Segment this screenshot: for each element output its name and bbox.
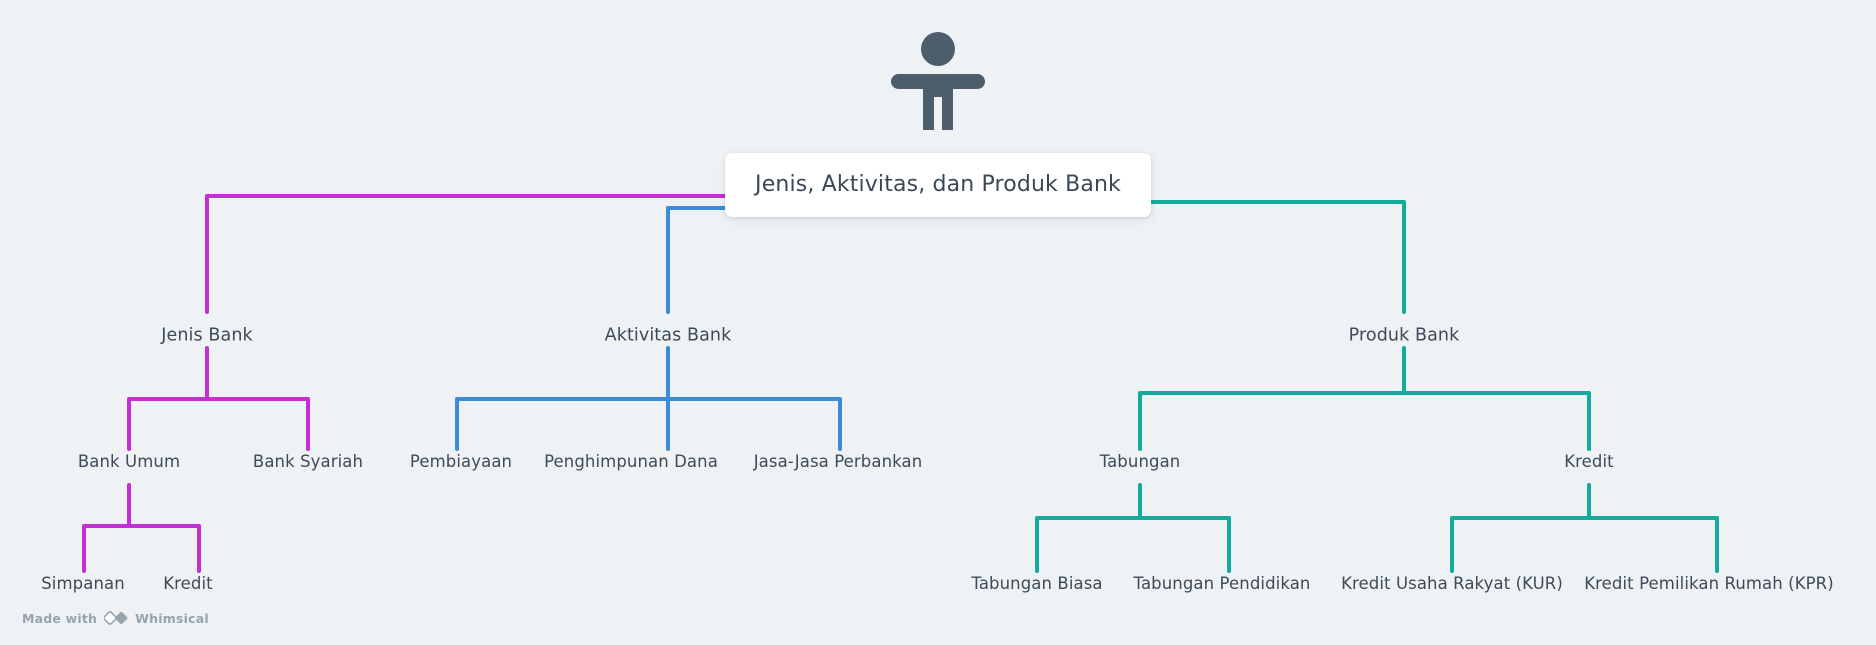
node-kredit-produk[interactable]: Kredit (1564, 452, 1614, 472)
node-label: Jasa-Jasa Perbankan (754, 452, 923, 471)
link-produk-bank-to-children (1140, 348, 1589, 449)
mindmap-canvas: Jenis, Aktivitas, dan Produk Bank Jenis … (0, 0, 1876, 645)
node-label: Pembiayaan (410, 452, 512, 471)
node-simpanan[interactable]: Simpanan (41, 574, 125, 594)
node-label: Simpanan (41, 574, 125, 593)
node-label: Bank Umum (78, 452, 180, 471)
node-label: Penghimpunan Dana (544, 452, 718, 471)
node-label: Produk Bank (1349, 326, 1460, 346)
node-produk-bank[interactable]: Produk Bank (1349, 326, 1460, 347)
node-kredit-jenis[interactable]: Kredit (163, 574, 213, 594)
link-aktivitas-bank-to-children (457, 348, 840, 449)
node-tabungan-biasa[interactable]: Tabungan Biasa (971, 574, 1102, 594)
node-pembiayaan[interactable]: Pembiayaan (410, 452, 512, 472)
link-root-to-produk-bank (1150, 202, 1404, 312)
whimsical-watermark[interactable]: Made with Whimsical (22, 610, 209, 626)
node-bank-umum[interactable]: Bank Umum (78, 452, 180, 472)
link-bank-umum-to-children (84, 485, 199, 571)
node-label: Aktivitas Bank (605, 326, 732, 346)
node-label: Kredit (1564, 452, 1614, 471)
node-tabungan-pendidikan[interactable]: Tabungan Pendidikan (1134, 574, 1311, 594)
link-jenis-bank-to-children (129, 348, 308, 449)
node-jenis-bank[interactable]: Jenis Bank (161, 326, 253, 347)
whimsical-logo-icon (104, 610, 128, 626)
node-aktivitas-bank[interactable]: Aktivitas Bank (605, 326, 732, 347)
node-jasa-jasa-perbankan[interactable]: Jasa-Jasa Perbankan (754, 452, 923, 472)
link-tabungan-to-children (1037, 485, 1229, 571)
node-label: Bank Syariah (253, 452, 363, 471)
link-root-to-jenis-bank (207, 196, 726, 312)
root-node-card[interactable]: Jenis, Aktivitas, dan Produk Bank (725, 153, 1151, 217)
node-bank-syariah[interactable]: Bank Syariah (253, 452, 363, 472)
root-node-label: Jenis, Aktivitas, dan Produk Bank (755, 172, 1121, 197)
node-label: Tabungan Biasa (971, 574, 1102, 593)
node-tabungan[interactable]: Tabungan (1100, 452, 1181, 472)
node-label: Tabungan (1100, 452, 1181, 471)
node-label: Tabungan Pendidikan (1134, 574, 1311, 593)
accessibility-person-icon (890, 30, 986, 134)
node-kredit-usaha-rakyat[interactable]: Kredit Usaha Rakyat (KUR) (1341, 574, 1563, 594)
node-label: Kredit (163, 574, 213, 593)
link-root-to-aktivitas-bank (668, 208, 726, 312)
link-kredit-to-children (1452, 485, 1717, 571)
node-kredit-pemilikan-rumah[interactable]: Kredit Pemilikan Rumah (KPR) (1584, 574, 1834, 594)
node-label: Kredit Pemilikan Rumah (KPR) (1584, 574, 1834, 593)
watermark-prefix: Made with (22, 611, 97, 626)
node-penghimpunan-dana[interactable]: Penghimpunan Dana (544, 452, 718, 472)
node-label: Jenis Bank (161, 326, 253, 346)
watermark-brand: Whimsical (135, 611, 209, 626)
node-label: Kredit Usaha Rakyat (KUR) (1341, 574, 1563, 593)
